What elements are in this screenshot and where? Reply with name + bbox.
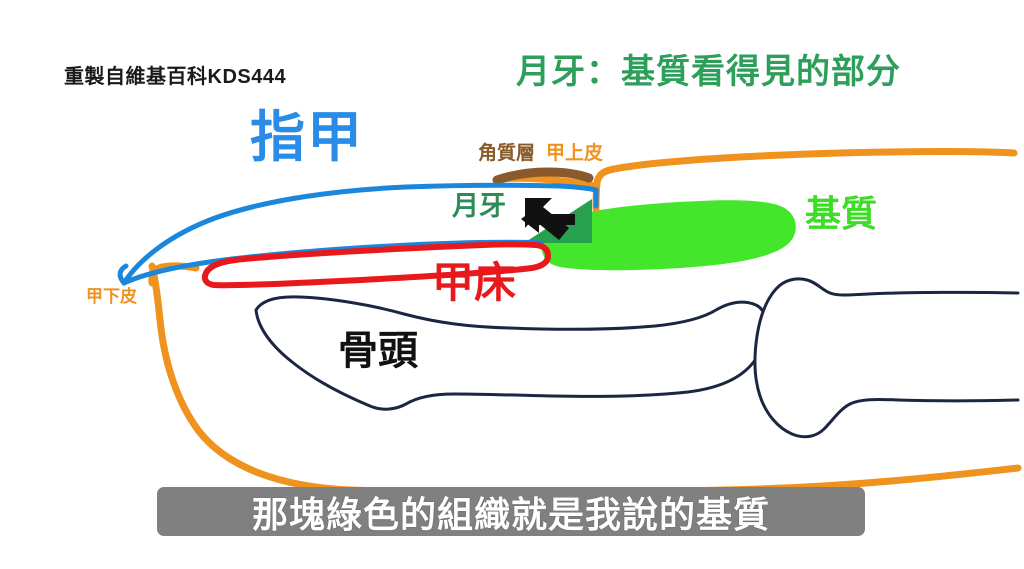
- credit-text: 重製自維基百科KDS444: [64, 67, 286, 87]
- label-lunula: 月牙: [452, 193, 506, 220]
- label-hyponychium: 甲下皮: [86, 288, 137, 305]
- bone-distal-phalanx-outline: [256, 297, 766, 409]
- subtitle-bar: 那塊綠色的組織就是我說的基質: [157, 487, 865, 536]
- label-eponychium: 甲上皮: [546, 144, 603, 163]
- nail-free-edge-blue: [120, 266, 126, 283]
- label-nail: 指甲: [250, 110, 364, 165]
- label-bone: 骨頭: [338, 331, 418, 371]
- label-cuticle: 角質層: [478, 144, 535, 163]
- diagram-canvas: 重製自維基百科KDS444 指甲 月牙：基質看得見的部分 角質層 甲上皮 月牙 …: [0, 0, 1024, 569]
- label-matrix: 基質: [805, 196, 877, 232]
- subtitle-text: 那塊綠色的組織就是我說的基質: [157, 487, 865, 536]
- bone-middle-phalanx-outline: [755, 279, 1018, 437]
- label-nail-bed: 甲床: [432, 262, 516, 304]
- headline-lunula: 月牙：基質看得見的部分: [516, 55, 901, 89]
